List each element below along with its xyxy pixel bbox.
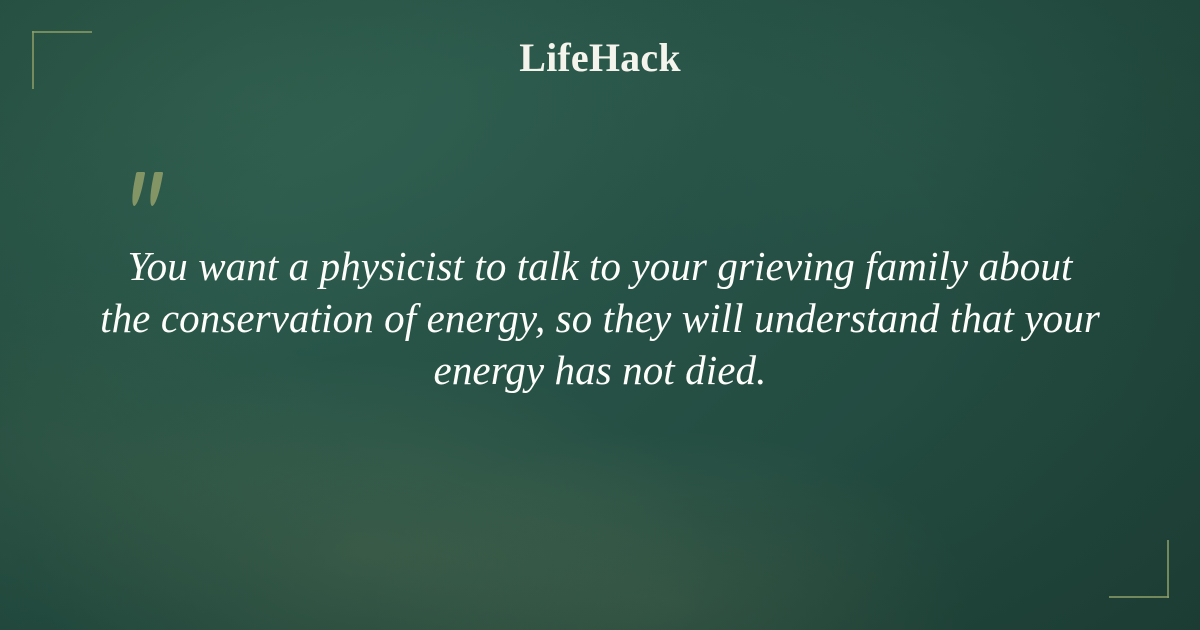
quote-block: You want a physicist to talk to your gri… bbox=[100, 240, 1100, 396]
quote-mark-stroke-second bbox=[148, 172, 164, 206]
quote-open-mark-icon bbox=[131, 172, 177, 216]
quote-card: LifeHack You want a physicist to talk to… bbox=[0, 0, 1200, 630]
quote-mark-stroke-first bbox=[130, 172, 146, 206]
quote-text: You want a physicist to talk to your gri… bbox=[100, 240, 1100, 396]
brand-logo[interactable]: LifeHack bbox=[0, 38, 1200, 78]
brand-logo-text: LifeHack bbox=[519, 38, 681, 78]
